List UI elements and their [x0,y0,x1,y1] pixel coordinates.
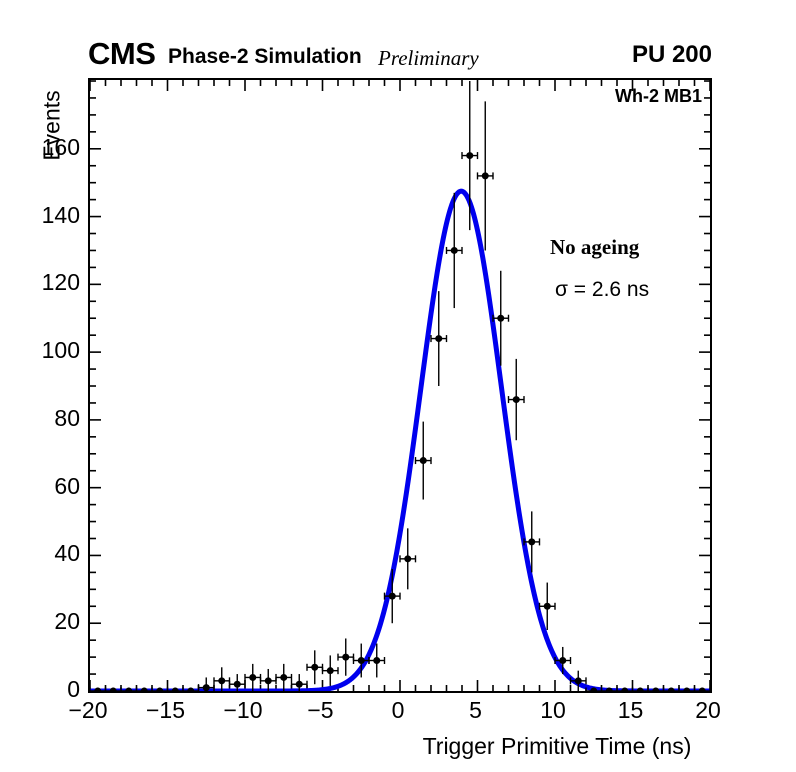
ageing-annotation: No ageing [550,235,639,260]
x-tick-15: 15 [591,699,671,722]
cms-simulation-label: Phase-2 Simulation [168,43,362,71]
plot-canvas: CMS Phase-2 Simulation Preliminary PU 20… [0,0,796,772]
plot-graphics [90,80,710,691]
y-tick-40: 40 [2,542,80,565]
x-tick--15: −15 [126,699,206,722]
x-tick-10: 10 [513,699,593,722]
x-tick--5: −5 [281,699,361,722]
cms-preliminary-label: Preliminary [378,44,479,72]
y-tick-80: 80 [2,407,80,430]
data-points [94,152,706,691]
x-axis-title: Trigger Primitive Time (ns) [392,733,722,760]
plot-area [90,80,710,691]
pileup-label: PU 200 [632,41,712,69]
y-tick-60: 60 [2,475,80,498]
x-tick--10: −10 [203,699,283,722]
gaussian-fit-curve [90,191,710,691]
plot-frame: Wh-2 MB1 No ageing σ = 2.6 ns [88,78,712,693]
x-tick-20: 20 [668,699,748,722]
y-tick-100: 100 [2,339,80,362]
y-tick-120: 120 [2,271,80,294]
y-tick-20: 20 [2,610,80,633]
x-tick-5: 5 [436,699,516,722]
chamber-label: Wh-2 MB1 [615,86,702,107]
y-tick-140: 140 [2,204,80,227]
x-tick-0: 0 [358,699,438,722]
cms-header: CMS Phase-2 Simulation Preliminary PU 20… [88,40,712,72]
cms-logo: CMS [88,38,155,70]
error-bars [90,81,710,691]
x-tick--20: −20 [48,699,128,722]
sigma-annotation: σ = 2.6 ns [555,278,649,302]
y-axis-title: Events [39,66,66,186]
